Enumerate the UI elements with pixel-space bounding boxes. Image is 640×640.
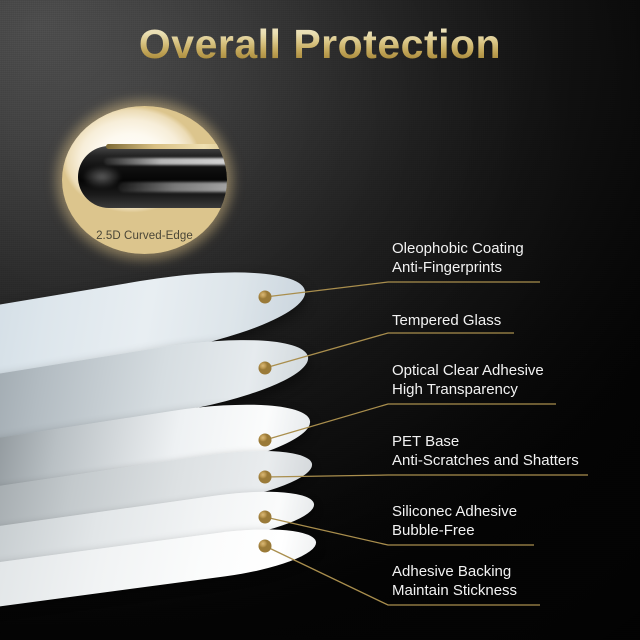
product-feature-poster: Overall Protection 2.5D Curved-Edge Oleo… — [0, 0, 640, 640]
callout-dot-1 — [259, 291, 272, 304]
callout-label-5: Siliconec AdhesiveBubble-Free — [392, 503, 517, 540]
callout-dot-2 — [259, 362, 272, 375]
callout-subtitle-3: High Transparency — [392, 381, 544, 400]
callout-dot-6 — [259, 540, 272, 553]
callout-title-2: Tempered Glass — [392, 312, 501, 331]
callout-label-3: Optical Clear AdhesiveHigh Transparency — [392, 362, 544, 399]
callout-label-4: PET BaseAnti-Scratches and Shatters — [392, 433, 579, 470]
callout-subtitle-1: Anti-Fingerprints — [392, 259, 524, 278]
callout-title-4: PET Base — [392, 433, 579, 452]
leader-line-4 — [265, 475, 588, 477]
callout-title-5: Siliconec Adhesive — [392, 503, 517, 522]
callout-leader-lines — [0, 0, 640, 640]
leader-line-1 — [265, 282, 540, 297]
callout-subtitle-4: Anti-Scratches and Shatters — [392, 452, 579, 471]
callout-label-6: Adhesive BackingMaintain Stickness — [392, 563, 517, 600]
callout-label-1: Oleophobic CoatingAnti-Fingerprints — [392, 240, 524, 277]
callout-subtitle-6: Maintain Stickness — [392, 582, 517, 601]
callout-dot-4 — [259, 471, 272, 484]
callout-title-6: Adhesive Backing — [392, 563, 517, 582]
callout-label-2: Tempered Glass — [392, 312, 501, 331]
callout-subtitle-5: Bubble-Free — [392, 522, 517, 541]
callout-title-3: Optical Clear Adhesive — [392, 362, 544, 381]
callout-dot-5 — [259, 511, 272, 524]
callout-title-1: Oleophobic Coating — [392, 240, 524, 259]
callout-dot-3 — [259, 434, 272, 447]
